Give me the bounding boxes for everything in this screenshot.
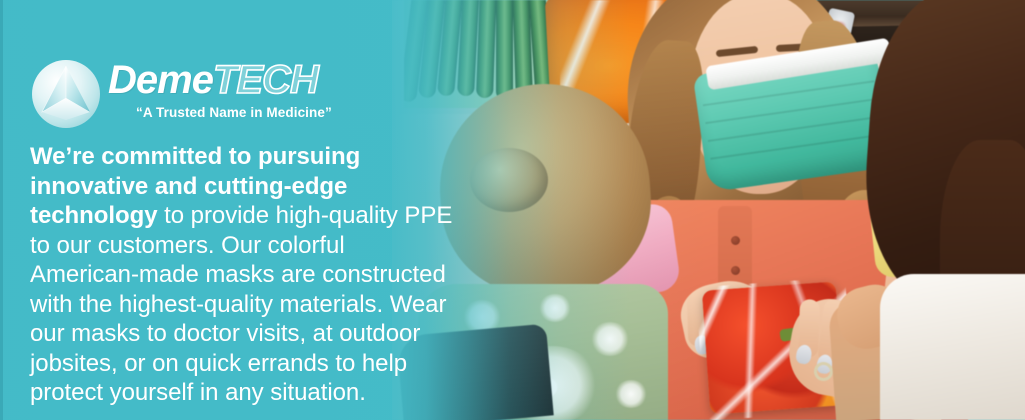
brand-tagline: “A Trusted Name in Medicine” (136, 105, 328, 120)
brand-wordmark: DemeTECH “A Trusted Name in Medicine” (108, 60, 328, 120)
marketing-copy: We’re committed to pursuing innovative a… (30, 142, 455, 408)
brand-name-secondary: TECH (213, 58, 318, 102)
demetech-promo-banner: DemeTECH “A Trusted Name in Medicine” We… (0, 0, 1025, 420)
brand-logo[interactable]: DemeTECH “A Trusted Name in Medicine” (30, 56, 330, 136)
woman-button-1 (731, 236, 740, 245)
woman-button-2 (731, 266, 740, 275)
demetech-pyramid-logo-icon (30, 58, 102, 130)
brand-name-primary: Deme (108, 58, 213, 102)
marketing-copy-body: to provide high-quality PPE to our custo… (30, 202, 452, 406)
banner-content: DemeTECH “A Trusted Name in Medicine” We… (0, 0, 460, 420)
dark-girl-white-shirt (880, 274, 1025, 420)
